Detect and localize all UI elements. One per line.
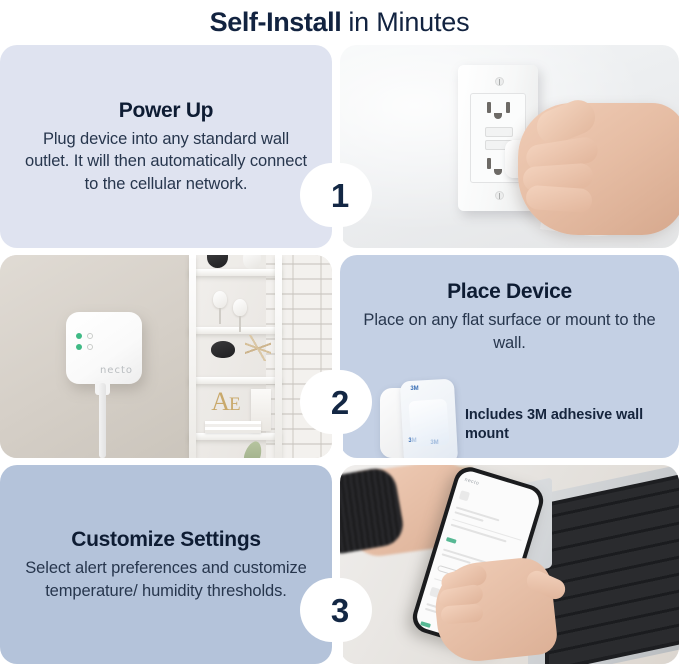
step-2-photo: AE necto	[0, 255, 332, 458]
plate-screw-top-icon	[495, 77, 504, 86]
shelving-area: AE	[189, 255, 332, 458]
adhesive-strip-sheen	[408, 399, 449, 448]
adhesive-note: Includes 3M adhesive wall mount	[465, 406, 665, 444]
step-badge-2: 2	[309, 371, 371, 433]
decor-sticks	[245, 335, 271, 361]
page-title-light: in Minutes	[348, 7, 469, 38]
ae-letters-decor: AE	[211, 387, 239, 417]
socket-slot-right	[506, 102, 510, 113]
necto-logo: necto	[100, 365, 133, 376]
hand-finger	[440, 604, 483, 625]
self-install-infographic: Self-Install in Minutes Power Up Plug de…	[0, 0, 679, 664]
plant-leaf	[242, 439, 265, 458]
shelf-upright	[189, 255, 196, 458]
owl-stand	[219, 308, 221, 324]
white-vase-decor	[243, 255, 261, 269]
step-2-text-card: Place Device Place on any flat surface o…	[340, 255, 679, 458]
device-with-adhesive-illustration: 3M 3M 3M	[380, 380, 466, 458]
book-stack	[205, 421, 261, 433]
step-badge-2-number: 2	[331, 386, 349, 419]
keyboard-keys	[549, 476, 679, 664]
owl-body	[233, 299, 247, 316]
necto-device: necto	[66, 312, 142, 384]
adhesive-note-text: Includes 3M adhesive wall mount	[465, 406, 665, 444]
step-3-heading: Customize Settings	[71, 527, 260, 553]
step-2-body: Place on any flat surface or mount to th…	[362, 309, 657, 354]
socket-ground	[494, 113, 502, 119]
owl-stand	[239, 316, 241, 332]
socket-slot-left	[487, 102, 491, 113]
status-led-outline	[87, 344, 93, 350]
socket-ground	[494, 169, 502, 175]
adhesive-brand-mark: 3M	[410, 386, 419, 393]
status-led-green	[76, 344, 82, 350]
shelf-upright	[275, 255, 282, 458]
shelf-board	[189, 377, 281, 384]
gfci-test-button	[485, 127, 513, 137]
black-white-vase	[211, 341, 235, 358]
step-2-heading: Place Device	[447, 279, 572, 305]
status-led-green	[76, 333, 82, 339]
step-1-heading: Power Up	[119, 98, 213, 124]
owl-body	[213, 291, 227, 308]
badge-connector-stem	[337, 427, 343, 469]
step-1-body: Plug device into any standard wall outle…	[22, 128, 310, 195]
step-badge-3-number: 3	[331, 594, 349, 627]
page-title: Self-Install in Minutes	[0, 0, 679, 45]
shelf-board	[189, 269, 281, 276]
badge-connector-stem	[337, 220, 343, 262]
outlet-socket-top	[483, 100, 515, 120]
step-badge-3: 3	[309, 579, 371, 641]
plate-screw-bottom-icon	[495, 191, 504, 200]
step-3-text-card: Customize Settings Select alert preferen…	[0, 465, 332, 664]
step-3-photo: necto	[340, 465, 679, 664]
socket-slot-left	[487, 158, 491, 169]
status-led-outline	[87, 333, 93, 339]
shelf-board	[189, 433, 281, 440]
app-row-thumbnail	[459, 490, 470, 501]
page-title-strong: Self-Install	[210, 7, 342, 38]
step-1-text-card: Power Up Plug device into any standard w…	[0, 45, 332, 248]
step-1-photo	[340, 45, 679, 248]
owl-figurine	[213, 291, 227, 324]
owl-figurine	[233, 299, 247, 332]
dark-bowl-decor	[207, 255, 228, 268]
hand-finger	[525, 185, 593, 214]
laptop-keyboard	[545, 471, 679, 664]
app-status-indicator	[420, 621, 431, 628]
steps-grid: Power Up Plug device into any standard w…	[0, 45, 679, 664]
step-badge-1: 1	[309, 164, 371, 226]
app-status-indicator	[446, 537, 457, 544]
necto-power-cable	[99, 383, 106, 458]
step-badge-1-number: 1	[331, 179, 349, 212]
step-3-body: Select alert preferences and customize t…	[22, 557, 310, 602]
